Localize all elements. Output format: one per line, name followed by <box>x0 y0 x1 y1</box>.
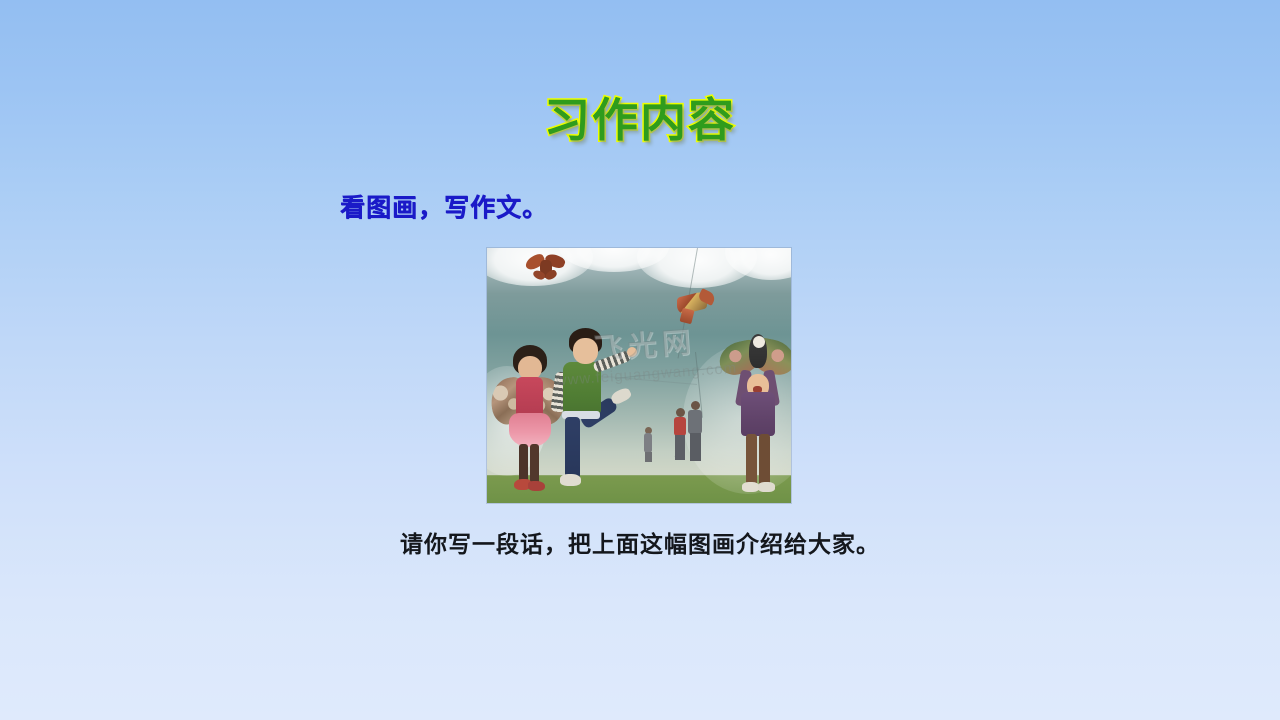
boy-shoe <box>560 474 581 486</box>
boy-arm-raised <box>592 350 631 373</box>
girl-leg <box>519 444 528 484</box>
distant-child <box>642 426 654 462</box>
boy-shoe <box>609 386 632 406</box>
kid-shoe <box>742 482 759 492</box>
distant-person-legs <box>675 435 685 460</box>
distant-person-body <box>674 417 686 436</box>
distant-person <box>687 401 703 461</box>
children-flying-kites-picture: 飞光网 www.feiguangwang.com <box>487 248 791 503</box>
assignment-caption: 请你写一段话，把上面这幅图画介绍给大家。 <box>0 525 1280 559</box>
kid-shoe <box>758 482 775 492</box>
distant-person-legs <box>645 452 652 462</box>
distant-person-head <box>676 408 685 417</box>
slide-canvas: 习作内容 看图画，写作文。 <box>0 0 1280 720</box>
kid-leg <box>746 434 757 486</box>
distant-person <box>673 408 687 460</box>
distant-person-head <box>691 401 700 410</box>
girl-shoe <box>528 481 545 491</box>
girl-skirt <box>509 413 551 447</box>
boy-hand <box>627 347 637 357</box>
kid-leg <box>759 434 770 486</box>
distant-person-legs <box>690 433 701 461</box>
distant-person-body <box>644 433 652 453</box>
kid-holding-butterfly-kite <box>719 334 791 502</box>
illustration-frame: 飞光网 www.feiguangwang.com <box>487 248 791 503</box>
boy-leg <box>565 417 580 479</box>
girl-leg <box>530 444 539 484</box>
page-title: 习作内容 <box>0 96 1280 144</box>
diamond-kite-tail <box>679 308 694 324</box>
diamond-kite <box>677 290 715 324</box>
bird-kite <box>525 251 567 281</box>
boy-face <box>573 338 598 364</box>
butterfly-kite-head <box>753 336 765 348</box>
running-boy <box>549 328 625 500</box>
distant-person-body <box>688 410 702 434</box>
kid-torso <box>741 392 775 436</box>
assignment-subheading: 看图画，写作文。 <box>340 188 548 224</box>
